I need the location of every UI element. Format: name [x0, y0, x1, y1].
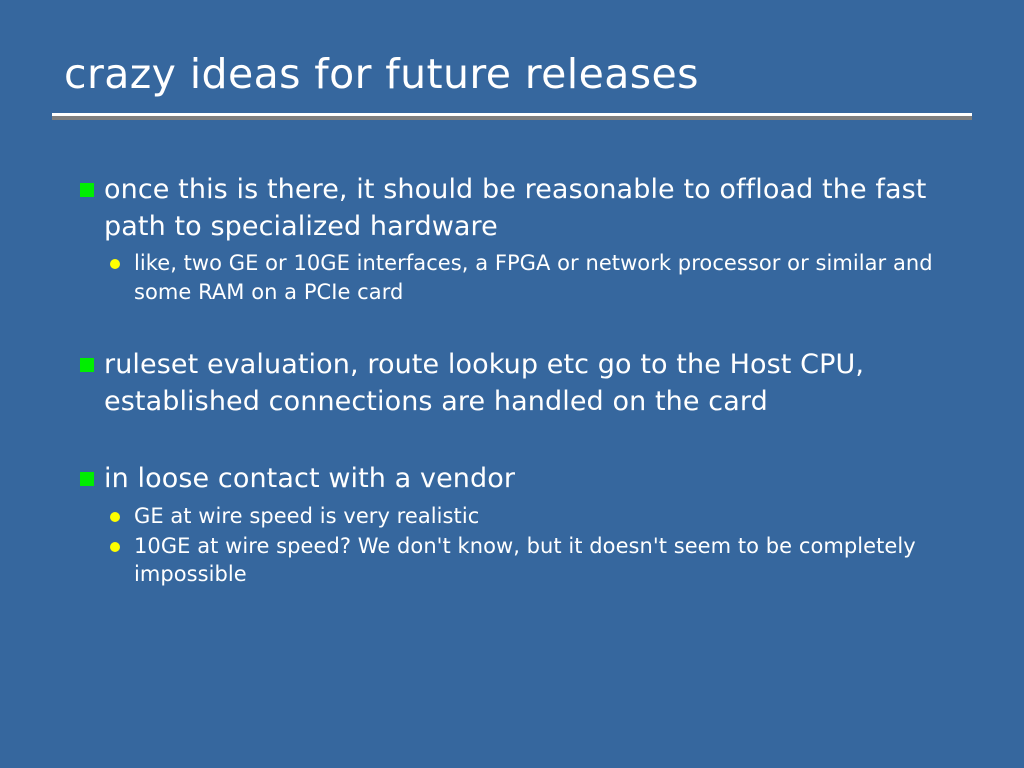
presentation-slide: crazy ideas for future releases once thi…: [0, 0, 1024, 768]
green-square-bullet-icon: [80, 472, 94, 486]
bullet-level1: in loose contact with a vendor: [78, 461, 978, 498]
yellow-dot-bullet-icon: [110, 259, 120, 269]
bullet-level1-label: ruleset evaluation, route lookup etc go …: [104, 349, 864, 417]
title-block: crazy ideas for future releases: [52, 52, 972, 98]
bullet-level2: like, two GE or 10GE interfaces, a FPGA …: [78, 249, 978, 307]
bullet-level2: 10GE at wire speed? We don't know, but i…: [78, 532, 978, 590]
bullet-level2-label: GE at wire speed is very realistic: [134, 504, 479, 528]
bullet-level1: once this is there, it should be reasona…: [78, 172, 978, 245]
bullet-group-3: in loose contact with a vendor GE at wir…: [78, 461, 978, 590]
yellow-dot-bullet-icon: [110, 542, 120, 552]
group-spacer: [78, 321, 978, 347]
bullet-level1-label: in loose contact with a vendor: [104, 463, 515, 494]
bullet-level2-label: 10GE at wire speed? We don't know, but i…: [134, 534, 916, 587]
page-title: crazy ideas for future releases: [52, 52, 972, 98]
bullet-group-2: ruleset evaluation, route lookup etc go …: [78, 347, 978, 420]
title-underline-shadow: [52, 116, 972, 120]
group-spacer: [78, 435, 978, 461]
bullet-level2: GE at wire speed is very realistic: [78, 502, 978, 531]
bullet-level2-label: like, two GE or 10GE interfaces, a FPGA …: [134, 251, 933, 304]
bullet-group-1: once this is there, it should be reasona…: [78, 172, 978, 307]
sub-bullet-list-1: like, two GE or 10GE interfaces, a FPGA …: [78, 249, 978, 307]
bullet-level1: ruleset evaluation, route lookup etc go …: [78, 347, 978, 420]
sub-bullet-list-3: GE at wire speed is very realistic 10GE …: [78, 502, 978, 590]
green-square-bullet-icon: [80, 358, 94, 372]
slide-body: once this is there, it should be reasona…: [78, 172, 978, 603]
yellow-dot-bullet-icon: [110, 512, 120, 522]
bullet-level1-label: once this is there, it should be reasona…: [104, 174, 926, 242]
green-square-bullet-icon: [80, 183, 94, 197]
